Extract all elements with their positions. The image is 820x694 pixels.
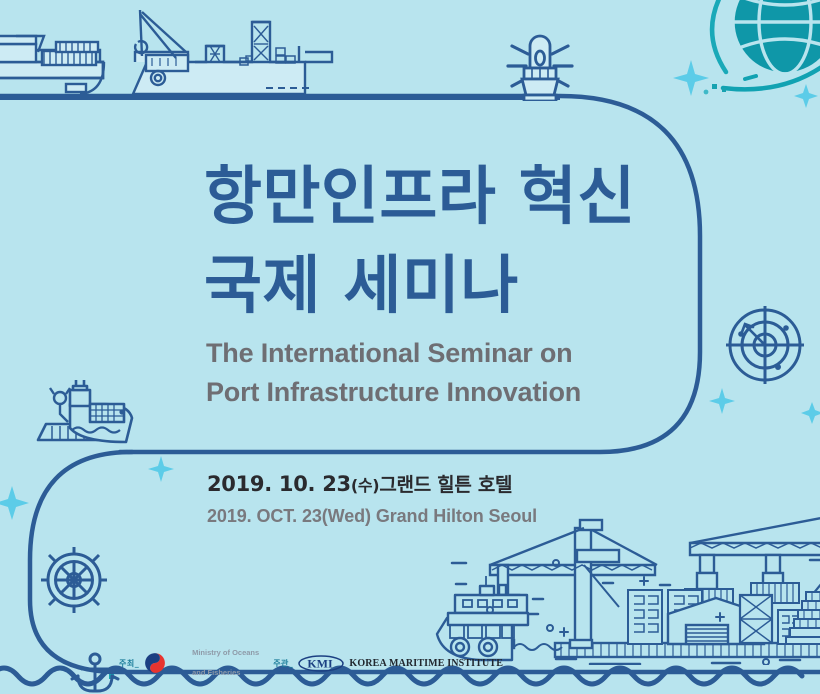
credit-organizer-name: KOREA MARITIME INSTITUTE bbox=[349, 658, 503, 669]
subtitle-line-1: The International Seminar on bbox=[206, 334, 746, 373]
kmi-logo: KMI bbox=[298, 655, 344, 672]
credit-host: 주최_ Ministry of Oceans and Fisheries bbox=[119, 638, 259, 689]
credit-host-name-line1: Ministry of Oceans bbox=[192, 648, 259, 657]
subtitle-line-2: Port Infrastructure Innovation bbox=[206, 373, 746, 412]
event-date-venue-en: 2019. OCT. 23(Wed) Grand Hilton Seoul bbox=[207, 506, 667, 527]
credit-organizer: 주관_ KMI KOREA MARITIME INSTITUTE bbox=[273, 655, 503, 672]
svg-text:KMI: KMI bbox=[308, 656, 334, 670]
seminar-poster: 항만인프라 혁신 국제 세미나 The International Semina… bbox=[0, 0, 820, 694]
event-details: 2019. 10. 23(수)그랜드 힐튼 호텔 2019. OCT. 23(W… bbox=[207, 470, 667, 527]
event-date-venue-ko: 2019. 10. 23(수)그랜드 힐튼 호텔 bbox=[207, 470, 667, 497]
event-venue-ko: 그랜드 힐튼 호텔 bbox=[379, 474, 512, 496]
event-date-ko: 2019. 10. 23 bbox=[207, 472, 351, 496]
event-weekday-ko: (수) bbox=[351, 476, 379, 495]
title-line-2: 국제 세미나 bbox=[204, 241, 724, 330]
page-title: 항만인프라 혁신 국제 세미나 bbox=[204, 152, 724, 331]
credit-role-label: 주관_ bbox=[273, 658, 293, 669]
title-line-1: 항만인프라 혁신 bbox=[204, 152, 724, 241]
credits-row: 주최_ Ministry of Oceans and Fisheries 주관_… bbox=[119, 638, 503, 689]
credit-role-label: 주최_ bbox=[119, 658, 139, 669]
credit-host-name: Ministry of Oceans and Fisheries bbox=[171, 638, 259, 689]
taegeuk-logo bbox=[144, 652, 166, 674]
page-subtitle: The International Seminar on Port Infras… bbox=[206, 334, 746, 412]
credit-host-name-line2: and Fisheries bbox=[192, 668, 240, 677]
